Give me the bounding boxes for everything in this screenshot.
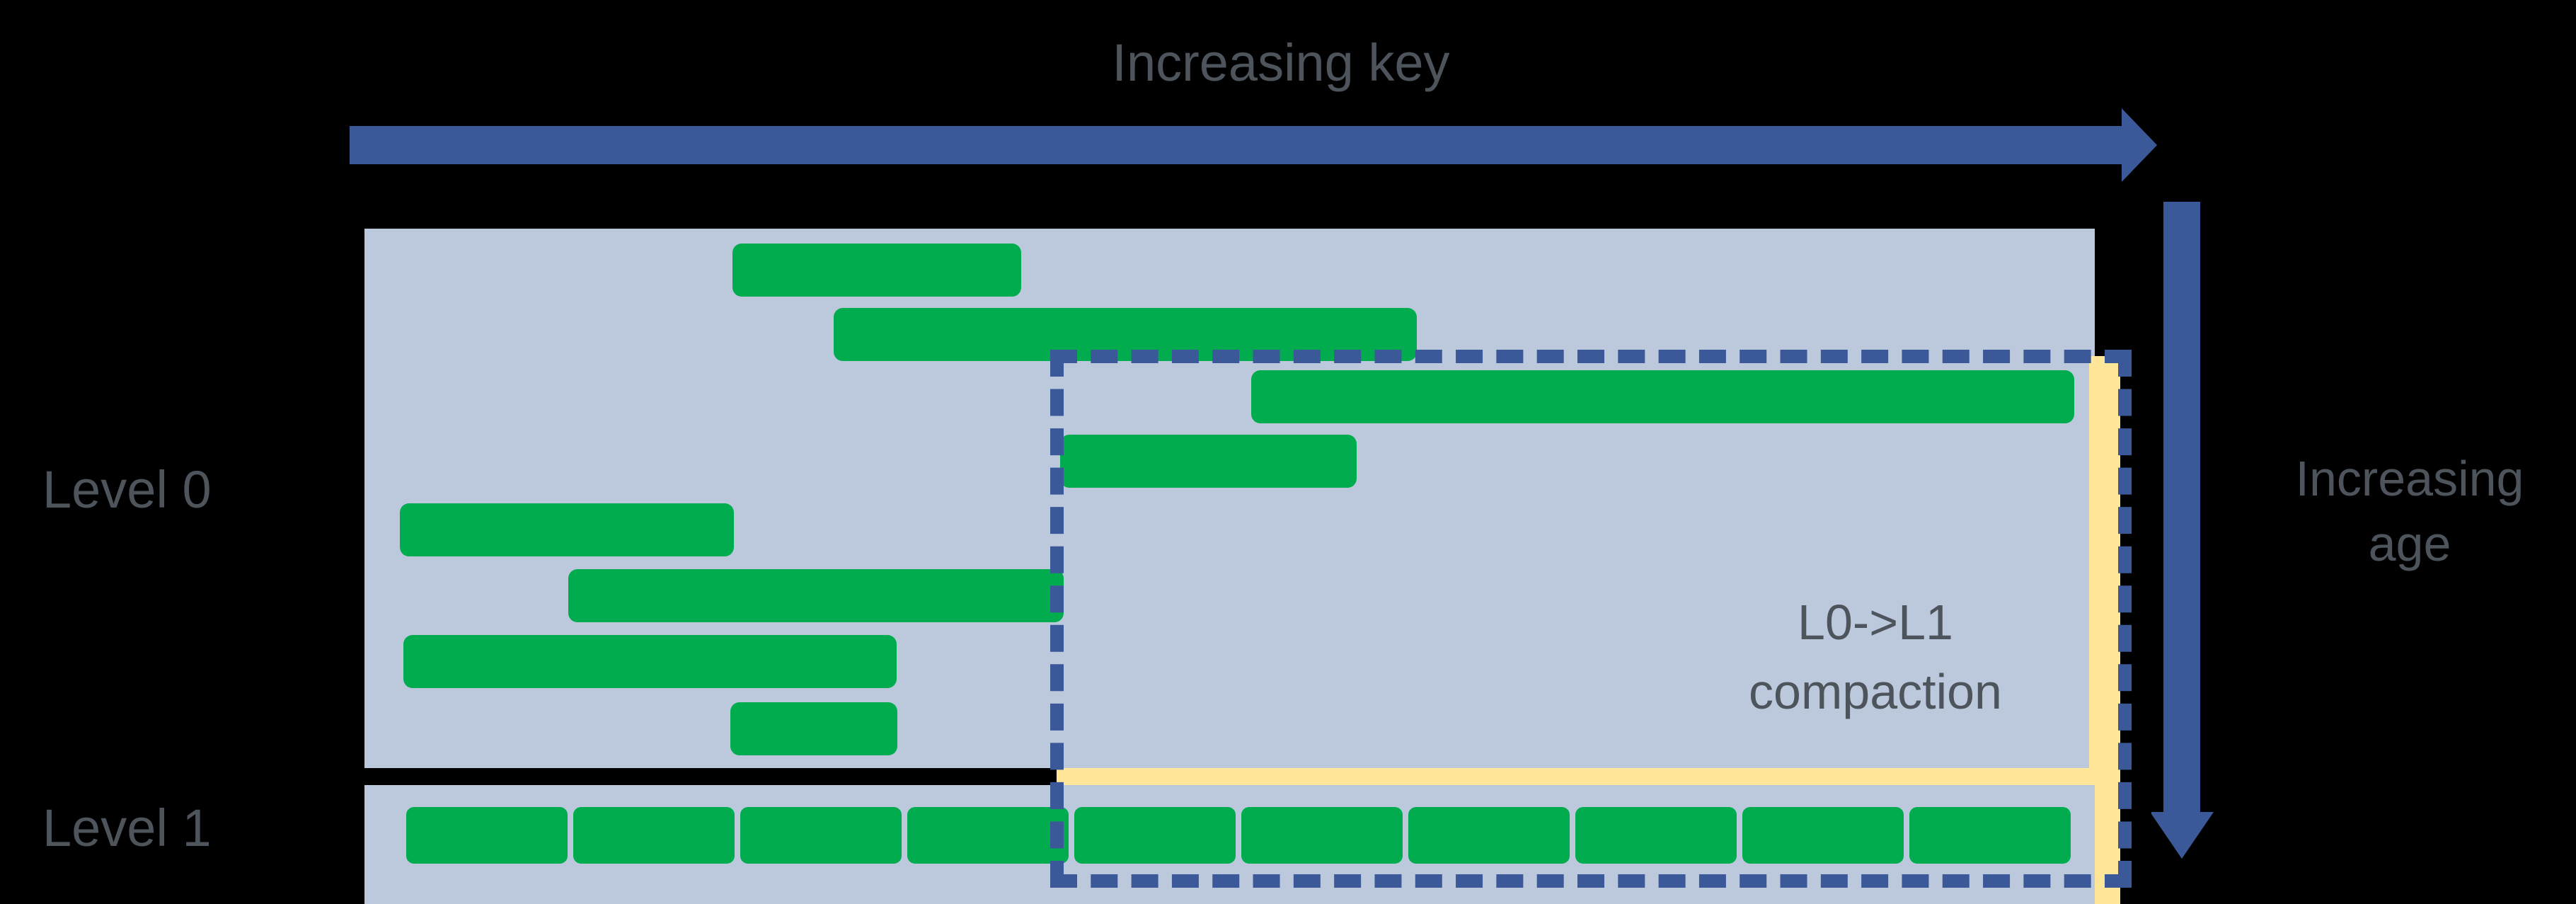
sstable-block[interactable] [403,635,897,688]
sstable-block[interactable] [730,702,897,755]
sstable-block[interactable] [573,807,735,864]
diagram-canvas: Increasing key Increasing age L0->L1 com… [0,0,2576,904]
sstable-block[interactable] [907,807,1069,864]
sstable-block[interactable] [400,503,734,556]
increasing-age-label: Increasing age [2243,446,2576,577]
compaction-label-line2: compaction [1628,657,2123,726]
increasing-age-arrow-icon [2151,202,2215,860]
increasing-age-label-line2: age [2243,511,2576,576]
sstable-block[interactable] [406,807,568,864]
level1-label: Level 1 [42,802,212,854]
increasing-key-label: Increasing key [0,37,2569,89]
sstable-block[interactable] [740,807,902,864]
increasing-key-arrow-icon [350,105,2161,185]
sstable-block[interactable] [568,569,1064,622]
compaction-label: L0->L1 compaction [1628,588,2123,726]
compaction-label-line1: L0->L1 [1628,588,2123,657]
sstable-block[interactable] [732,244,1021,297]
increasing-age-label-line1: Increasing [2243,446,2576,511]
level0-label: Level 0 [42,464,212,516]
